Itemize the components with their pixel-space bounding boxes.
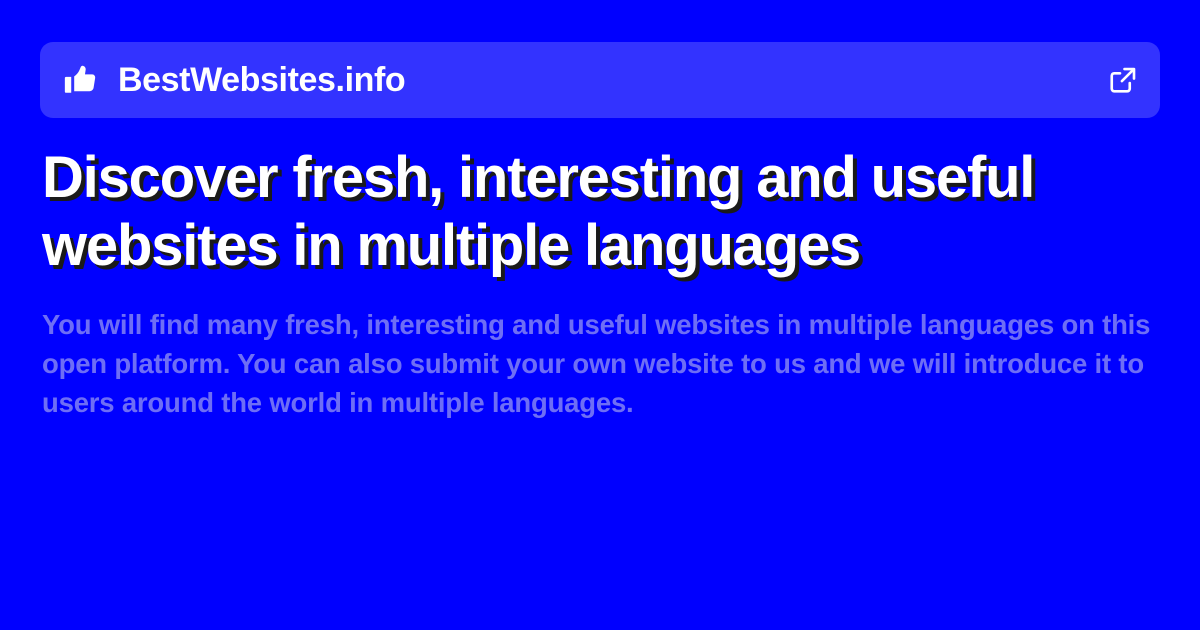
page-title: Discover fresh, interesting and useful w… [42,144,1132,281]
site-header-bar[interactable]: BestWebsites.info [40,42,1160,118]
site-name-label: BestWebsites.info [118,63,405,97]
brand-group[interactable]: BestWebsites.info [64,63,1108,97]
og-preview-card: BestWebsites.info Discover fresh, intere… [0,0,1200,630]
thumbs-up-icon [64,63,118,97]
external-link-icon[interactable] [1108,65,1138,95]
page-description: You will find many fresh, interesting an… [42,305,1162,422]
